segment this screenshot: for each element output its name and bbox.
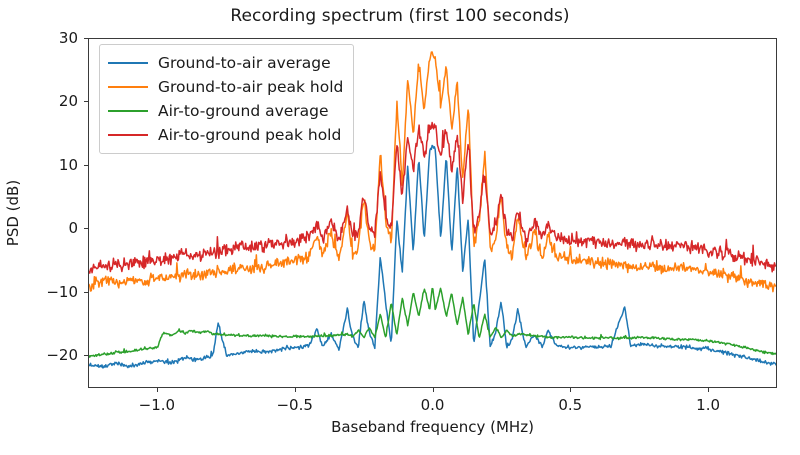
legend-item-label: Ground-to-air average xyxy=(158,54,331,72)
y-tick-label: 0 xyxy=(34,219,78,237)
legend-item[interactable]: Ground-to-air average xyxy=(108,51,343,75)
x-tick-mark xyxy=(157,388,158,392)
y-axis-label: PSD (dB) xyxy=(4,180,22,246)
legend-item[interactable]: Air-to-ground peak hold xyxy=(108,123,343,147)
legend-color-swatch xyxy=(108,134,148,136)
x-tick-label: −1.0 xyxy=(139,396,175,414)
x-tick-label: 1.0 xyxy=(696,396,720,414)
y-tick-label: 20 xyxy=(34,92,78,110)
y-tick-label: 30 xyxy=(34,29,78,47)
legend-color-swatch xyxy=(108,62,148,64)
x-tick-label: 0.5 xyxy=(558,396,582,414)
y-tick-label: 10 xyxy=(34,156,78,174)
legend-item-label: Air-to-ground peak hold xyxy=(158,126,341,144)
page-title: Recording spectrum (first 100 seconds) xyxy=(0,6,800,26)
legend-item-label: Ground-to-air peak hold xyxy=(158,78,343,96)
legend-item[interactable]: Ground-to-air peak hold xyxy=(108,75,343,99)
legend-item-label: Air-to-ground average xyxy=(158,102,329,120)
legend-item[interactable]: Air-to-ground average xyxy=(108,99,343,123)
x-tick-mark xyxy=(433,388,434,392)
x-tick-mark xyxy=(295,388,296,392)
x-axis-label: Baseband frequency (MHz) xyxy=(88,418,777,436)
legend-color-swatch xyxy=(108,110,148,112)
x-tick-label: −0.5 xyxy=(276,396,312,414)
legend-color-swatch xyxy=(108,86,148,88)
x-tick-mark xyxy=(708,388,709,392)
x-tick-label: 0.0 xyxy=(421,396,445,414)
figure-canvas: Recording spectrum (first 100 seconds) P… xyxy=(0,0,800,455)
y-tick-label: −10 xyxy=(34,283,78,301)
y-tick-label: −20 xyxy=(34,346,78,364)
legend: Ground-to-air averageGround-to-air peak … xyxy=(99,44,354,154)
x-tick-mark xyxy=(570,388,571,392)
